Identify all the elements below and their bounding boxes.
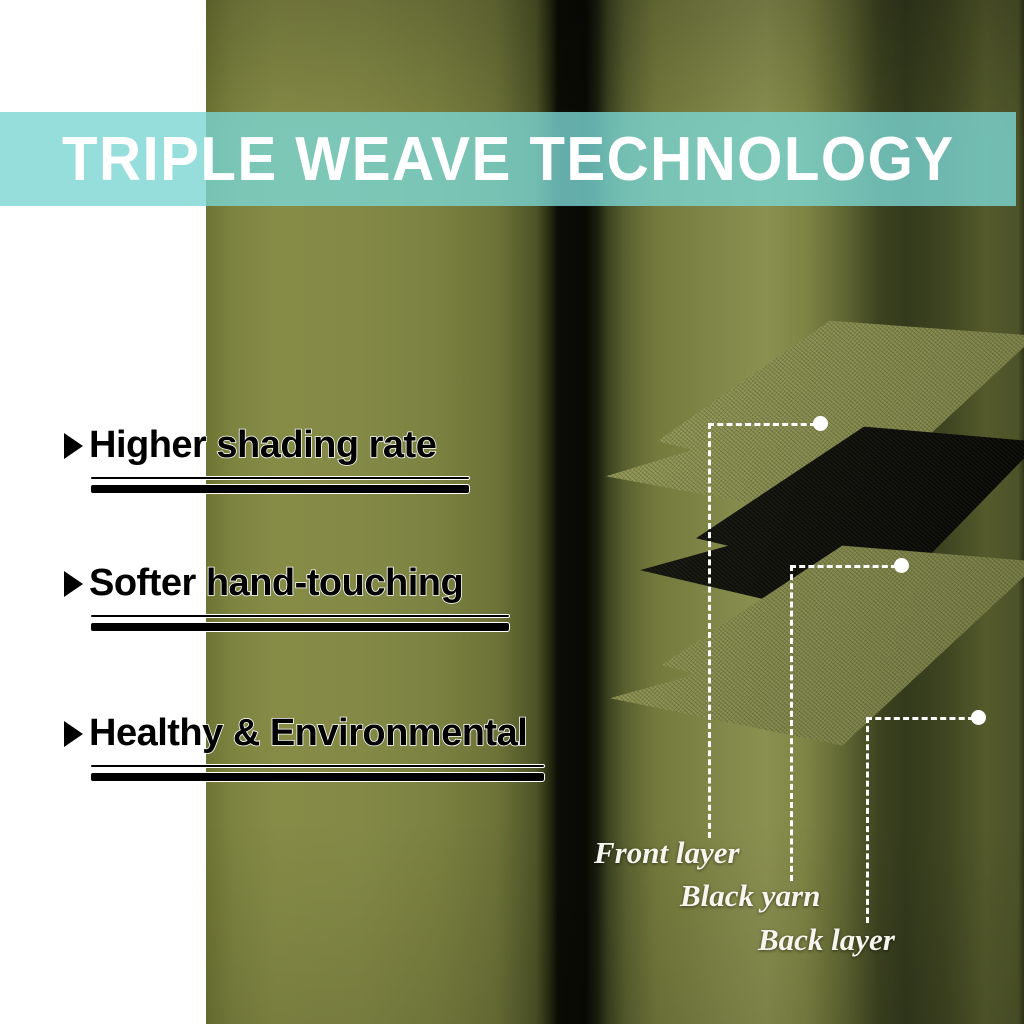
underline-thin-rule (90, 476, 470, 480)
caption-black-yarn: Black yarn (680, 878, 820, 914)
callout-leader-h-front-layer (708, 423, 816, 426)
feature-underline (90, 764, 545, 782)
fabric-layer-diagram (600, 280, 1024, 860)
triangle-right-icon (64, 571, 83, 597)
underline-thin-rule (90, 614, 510, 618)
triangle-right-icon (64, 721, 83, 747)
underline-thin-rule (90, 764, 545, 768)
caption-back-layer: Back layer (758, 922, 895, 958)
page-title: TRIPLE WEAVE TECHNOLOGY (62, 117, 946, 203)
triangle-right-icon (64, 433, 83, 459)
callout-leader-h-back-layer (866, 717, 974, 720)
underline-thick-rule (90, 484, 470, 494)
caption-front-layer: Front layer (594, 835, 740, 871)
feature-underline (90, 614, 510, 632)
feature-label: Softer hand-touching (89, 562, 463, 605)
feature-label: Higher shading rate (89, 424, 436, 467)
product-feature-graphic: TRIPLE WEAVE TECHNOLOGY Higher shading r… (0, 0, 1024, 1024)
feature-label: Healthy & Environmental (89, 712, 527, 755)
callout-leader-v-front-layer (708, 423, 711, 838)
callout-leader-v-back-layer (866, 717, 869, 923)
underline-thick-rule (90, 772, 545, 782)
underline-thick-rule (90, 622, 510, 632)
callout-leader-v-black-yarn (790, 565, 793, 881)
feature-item-softer-hand-touching: Softer hand-touching (64, 562, 510, 632)
callout-leader-h-black-yarn (790, 565, 897, 568)
feature-item-higher-shading-rate: Higher shading rate (64, 424, 470, 494)
feature-item-healthy-environmental: Healthy & Environmental (64, 712, 545, 782)
feature-underline (90, 476, 470, 494)
